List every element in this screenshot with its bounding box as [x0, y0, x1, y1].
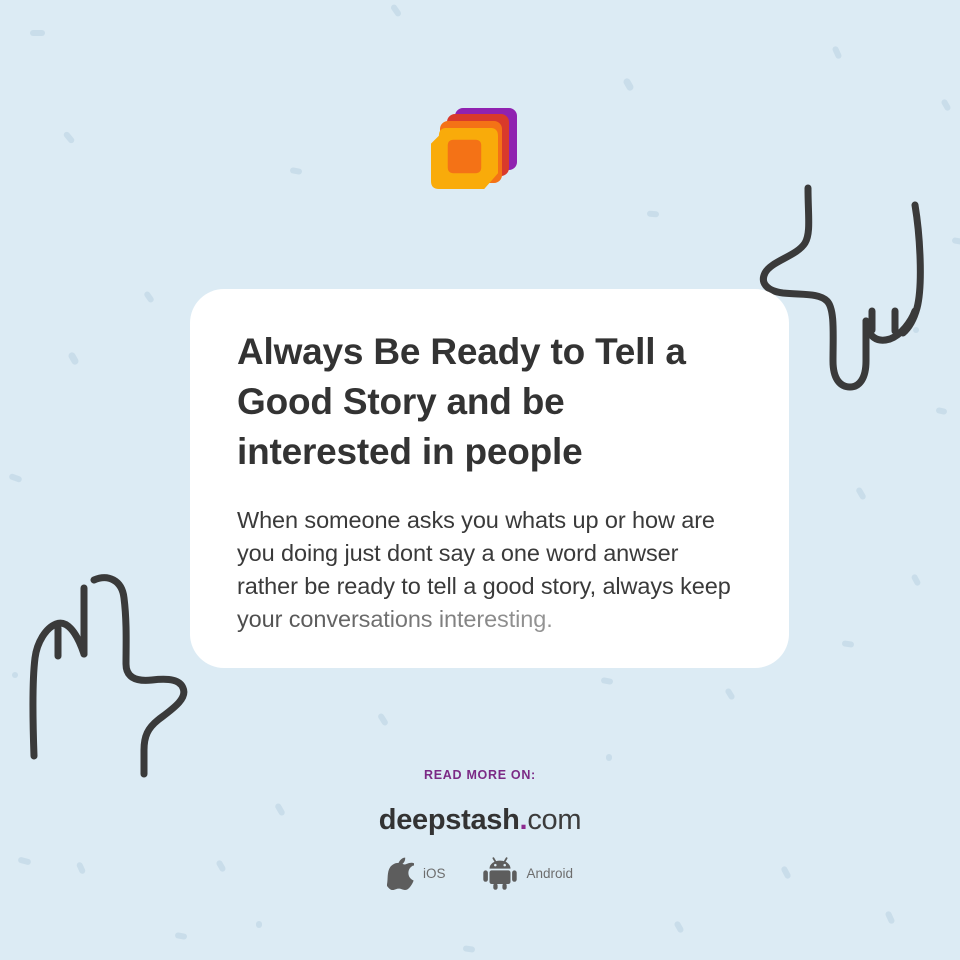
- speckle-mark: [842, 640, 855, 648]
- speckle-mark: [832, 45, 843, 59]
- read-more-label: READ MORE ON:: [0, 768, 960, 782]
- speckle-mark: [913, 327, 919, 333]
- idea-card: Always Be Ready to Tell a Good Story and…: [190, 289, 789, 668]
- brand-name: deepstash: [379, 804, 520, 836]
- speckle-mark: [67, 351, 80, 366]
- android-icon: [483, 857, 517, 890]
- body-line-4-faded: your conversations interesting.: [237, 603, 743, 636]
- speckle-mark: [911, 573, 922, 586]
- speckle-mark: [952, 237, 960, 245]
- poster-canvas: Always Be Ready to Tell a Good Story and…: [0, 0, 960, 960]
- apple-icon: [387, 857, 414, 890]
- speckle-mark: [935, 407, 947, 415]
- speckle-mark: [940, 98, 951, 111]
- speckle-mark: [855, 486, 867, 500]
- speckle-mark: [143, 290, 155, 303]
- speckle-mark: [463, 945, 476, 953]
- speckle-mark: [175, 932, 188, 940]
- footer: READ MORE ON: deepstash.com iOS: [0, 768, 960, 890]
- body-line-2: you doing just dont say a one word anwse…: [237, 537, 743, 570]
- body-line-1: When someone asks you whats up or how ar…: [237, 504, 743, 537]
- speckle-mark: [390, 3, 402, 17]
- speckle-mark: [606, 754, 612, 761]
- pointing-hand-illustration-left: [18, 558, 218, 790]
- store-label-ios: iOS: [423, 866, 446, 881]
- speckle-mark: [256, 921, 262, 928]
- logo-layer-amber-icon: [431, 128, 499, 196]
- brand-tld: com: [527, 804, 581, 836]
- speckle-mark: [12, 672, 18, 678]
- speckle-mark: [30, 30, 45, 36]
- speckle-mark: [724, 687, 735, 700]
- speckle-mark: [885, 910, 896, 924]
- speckle-mark: [622, 77, 635, 92]
- speckle-mark: [290, 167, 303, 175]
- card-body-text: When someone asks you whats up or how ar…: [237, 504, 743, 636]
- app-store-badges: iOS: [0, 857, 960, 890]
- deepstash-logo[interactable]: [431, 108, 517, 196]
- speckle-mark: [673, 920, 684, 933]
- page-title: Always Be Ready to Tell a Good Story and…: [237, 327, 743, 477]
- body-line-3: rather be ready to tell a good story, al…: [237, 570, 743, 603]
- speckle-mark: [601, 677, 614, 685]
- store-badge-android[interactable]: Android: [483, 857, 573, 890]
- store-label-android: Android: [526, 866, 573, 881]
- store-badge-ios[interactable]: iOS: [387, 857, 446, 890]
- brand-wordmark[interactable]: deepstash.com: [0, 806, 960, 835]
- speckle-mark: [647, 210, 659, 217]
- speckle-mark: [63, 131, 76, 145]
- speckle-mark: [377, 712, 389, 726]
- speckle-mark: [8, 473, 22, 483]
